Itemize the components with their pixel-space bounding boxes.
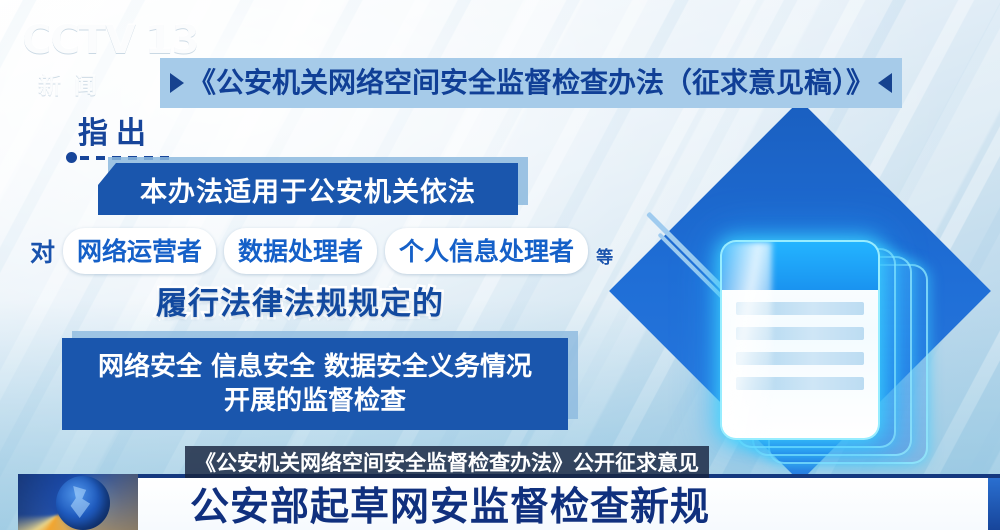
broadcast-stage: CCTV 13 新闻 《公安机关网络空间安全监督检查办法（征求意见稿）》 指出	[0, 0, 1000, 530]
chip-data-processor[interactable]: 数据处理者	[224, 228, 377, 274]
page-title: 《公安机关网络空间安全监督检查办法（征求意见稿）》	[188, 69, 874, 97]
logo-slash-icon	[134, 23, 145, 57]
entity-chip-row: 对 网络运营者 数据处理者 个人信息处理者 等	[30, 228, 613, 274]
lower-third-subtitle-bar: 《公安机关网络空间安全监督检查办法》公开征求意见	[185, 446, 709, 478]
title-banner: 《公安机关网络空间安全监督检查办法（征求意见稿）》	[160, 58, 902, 108]
chip-prefix-text: 对	[30, 233, 55, 269]
lower-third-right-edge	[988, 478, 1000, 530]
statement-text-1: 本办法适用于公安机关依法	[140, 170, 476, 209]
section-label-block: 指出	[78, 118, 154, 163]
chip-suffix-text: 等	[596, 243, 613, 268]
chip-personal-info-processor[interactable]: 个人信息处理者	[385, 228, 588, 274]
logo-wordmark: CCTV 13	[22, 20, 162, 60]
triangle-left-icon	[878, 73, 892, 93]
statement-banner-3-body: 网络安全 信息安全 数据安全义务情况 开展的监督检查	[62, 338, 568, 430]
globe-sphere	[56, 476, 110, 530]
document-card-icon	[720, 240, 880, 440]
statement-text-2: 履行法律法规规定的	[156, 278, 444, 323]
chip-network-operator[interactable]: 网络运营者	[63, 228, 216, 274]
bullet-dot-icon	[66, 152, 77, 163]
logo-subtitle: 新闻	[38, 66, 162, 100]
lower-third-headline-bar: 公安部起草网安监督检查新规	[138, 478, 1000, 530]
logo-number: 13	[145, 20, 199, 60]
triangle-right-icon	[170, 73, 184, 93]
statement-banner-1-body: 本办法适用于公安机关依法	[98, 163, 518, 215]
lower-third-headline: 公安部起草网安监督检查新规	[190, 476, 710, 530]
globe-icon	[18, 474, 138, 530]
statement-banner-3: 网络安全 信息安全 数据安全义务情况 开展的监督检查	[62, 338, 568, 430]
document-shine-overlay	[720, 242, 772, 438]
cctv13-logo: CCTV 13 新闻	[22, 20, 162, 98]
diamond-artwork	[610, 128, 1000, 468]
lower-third-subtitle: 《公安机关网络空间安全监督检查办法》公开征求意见	[195, 447, 699, 477]
logo-text: CCTV	[22, 20, 135, 60]
statement-text-3a: 网络安全 信息安全 数据安全义务情况	[98, 351, 532, 384]
section-label: 指出	[78, 118, 154, 150]
statement-text-3b: 开展的监督检查	[224, 385, 406, 418]
statement-banner-1: 本办法适用于公安机关依法	[98, 163, 518, 215]
